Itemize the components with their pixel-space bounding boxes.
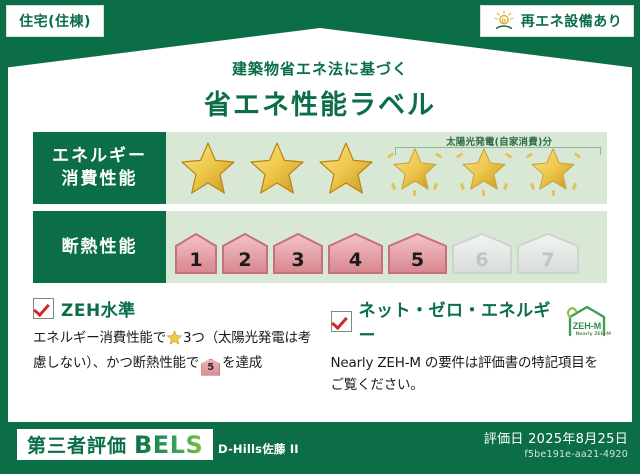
renewable-equipment-tag: D 再エネ設備あり	[480, 5, 634, 37]
evaluation-date: 評価日 2025年8月25日	[484, 428, 628, 447]
bels-jp-label: 第三者評価	[27, 431, 127, 458]
star-icon-inline	[167, 330, 182, 353]
label-title: 建築物省エネ法に基づく 省エネ性能ラベル	[8, 58, 632, 122]
insulation-level-number: 1	[189, 249, 202, 275]
insulation-level-number: 6	[475, 249, 488, 275]
label-body-card: 建築物省エネ法に基づく 省エネ性能ラベル エネルギー 消費性能 太陽光発電(自家…	[8, 28, 632, 422]
svg-text:ZEH-M: ZEH-M	[573, 321, 602, 331]
zeh-m-logo: ZEH-M Nearly ZEH-M	[564, 304, 610, 338]
label-footer: 第三者評価 BELS D-Hills佐藤 II 評価日 2025年8月25日 f…	[0, 422, 640, 474]
bels-badge: 第三者評価 BELS	[17, 429, 213, 460]
renewable-equipment-label: 再エネ設備あり	[521, 11, 623, 31]
zeh-sections: ZEH水準 エネルギー消費性能で3つ（太陽光発電は考慮しない）、かつ断熱性能で5…	[33, 296, 610, 396]
insulation-levels-area: 1 2 3	[166, 211, 607, 283]
evaluation-info: 評価日 2025年8月25日 f5be191e-aa21-4920	[484, 428, 628, 460]
energy-stars-area: 太陽光発電(自家消費)分	[166, 132, 607, 204]
insulation-performance-label: 断熱性能	[33, 211, 166, 283]
insulation-level-house-inactive: 7	[516, 231, 580, 275]
insulation-level-scale: 1 2 3	[166, 211, 580, 283]
insulation-label-text: 断熱性能	[62, 236, 138, 259]
title-main: 省エネ性能ラベル	[8, 83, 632, 122]
energy-performance-label: エネルギー 消費性能	[33, 132, 166, 204]
insulation-level-number: 5	[411, 249, 424, 275]
insulation-level-house: 3	[272, 231, 324, 275]
insulation-level-house: 1	[174, 231, 218, 275]
evaluation-id: f5be191e-aa21-4920	[484, 449, 628, 460]
building-type-tag: 住宅(住棟)	[6, 5, 104, 37]
zeh-standard-block: ZEH水準 エネルギー消費性能で3つ（太陽光発電は考慮しない）、かつ断熱性能で5…	[33, 296, 313, 396]
insulation-performance-row: 断熱性能 1	[33, 211, 607, 283]
building-type-label: 住宅(住棟)	[19, 11, 91, 31]
checkbox-checked-icon	[33, 298, 54, 319]
star-filled	[243, 138, 310, 198]
zeh-desc-part-a: エネルギー消費性能で	[33, 330, 166, 346]
bels-en-label: BELS	[134, 431, 203, 459]
title-subtitle: 建築物省エネ法に基づく	[8, 58, 632, 79]
net-zero-description: Nearly ZEH-M の要件は評価書の特記項目をご覧ください。	[331, 353, 611, 396]
energy-label-line1: エネルギー	[52, 145, 147, 168]
star-solar	[381, 138, 448, 198]
net-zero-heading: ネット・ゼロ・エネルギー ZEH-M Nearly ZEH-M	[331, 296, 611, 346]
star-filled	[312, 138, 379, 198]
performance-rows: エネルギー 消費性能 太陽光発電(自家消費)分	[33, 132, 607, 290]
energy-label-line2: 消費性能	[62, 168, 138, 191]
zeh-m-logo-caption: Nearly ZEH-M	[576, 332, 611, 337]
building-name: D-Hills佐藤 II	[218, 441, 299, 457]
insulation-badge-inline: 5	[201, 359, 220, 376]
insulation-level-number: 4	[349, 249, 362, 275]
net-zero-title: ネット・ゼロ・エネルギー	[359, 296, 558, 346]
insulation-level-house-inactive: 6	[451, 231, 513, 275]
insulation-level-number: 2	[238, 249, 251, 275]
insulation-level-number: 3	[291, 249, 304, 275]
zeh-desc-part-c: を達成	[222, 355, 262, 371]
star-solar	[450, 138, 517, 198]
zeh-standard-heading: ZEH水準	[33, 296, 313, 321]
star-solar	[520, 138, 587, 198]
insulation-level-house: 2	[221, 231, 269, 275]
net-zero-energy-block: ネット・ゼロ・エネルギー ZEH-M Nearly ZEH-M Nearly Z…	[331, 296, 611, 396]
energy-performance-row: エネルギー 消費性能 太陽光発電(自家消費)分	[33, 132, 607, 204]
energy-label-card: 住宅(住棟) D 再エネ設備あり 建築物省エネ法に基づく 省エネ性能	[0, 0, 640, 474]
insulation-level-number: 7	[541, 249, 554, 275]
checkbox-checked-icon	[331, 311, 352, 332]
zeh-desc-star-count: 3つ（太陽光発電	[183, 330, 285, 346]
insulation-level-house: 4	[327, 231, 384, 275]
sun-icon: D	[492, 10, 516, 32]
zeh-standard-title: ZEH水準	[61, 296, 136, 321]
svg-text:D: D	[501, 18, 506, 24]
star-filled	[174, 138, 241, 198]
zeh-standard-description: エネルギー消費性能で3つ（太陽光発電は考慮しない）、かつ断熱性能で5を達成	[33, 328, 313, 376]
insulation-level-house: 5	[387, 231, 448, 275]
star-rating	[166, 138, 607, 198]
